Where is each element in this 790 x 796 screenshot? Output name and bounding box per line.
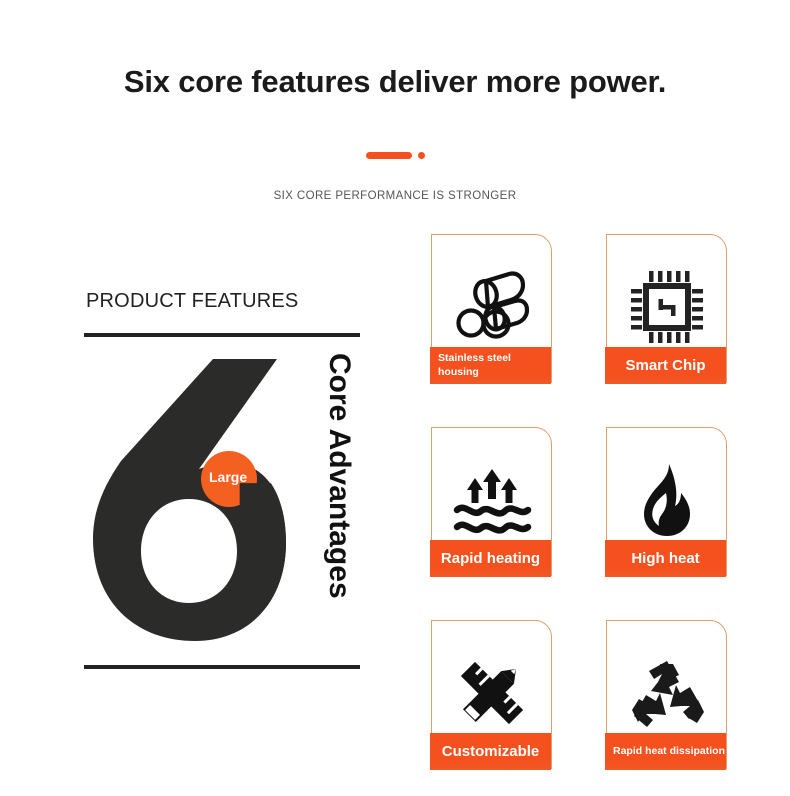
feature-card[interactable]: Smart Chip (606, 234, 727, 383)
feature-card-label: High heat (605, 540, 726, 577)
section-title: PRODUCT FEATURES (84, 290, 360, 313)
divider-dot (418, 152, 425, 159)
promo-page: Six core features deliver more power. SI… (0, 0, 790, 796)
feature-card-label: Rapid heat dissipation (605, 733, 726, 770)
feature-card-grid: Stainless steel housing (431, 234, 735, 769)
vertical-caption-text: Core Advantages (324, 353, 354, 599)
feature-card[interactable]: Rapid heating (431, 427, 552, 576)
feature-card-label: Smart Chip (605, 347, 726, 384)
feature-card[interactable]: High heat (606, 427, 727, 576)
rule-top (84, 333, 360, 337)
feature-card[interactable]: Rapid heat dissipation (606, 620, 727, 769)
title-divider (0, 152, 790, 159)
feature-card-label: Stainless steel housing (430, 347, 551, 384)
large-badge-label: Large (209, 469, 279, 485)
vertical-caption: Core Advantages (316, 353, 362, 643)
page-subtitle: SIX CORE PERFORMANCE IS STRONGER (0, 190, 790, 202)
hero-number-block: Large Core Advantages (84, 351, 360, 651)
feature-card[interactable]: Customizable (431, 620, 552, 769)
feature-card[interactable]: Stainless steel housing (431, 234, 552, 383)
feature-card-label: Customizable (430, 733, 551, 770)
big-six-shape (81, 351, 291, 647)
rule-bottom (84, 665, 360, 669)
left-column: PRODUCT FEATURES Large Core Advantages (84, 290, 360, 669)
page-title: Six core features deliver more power. (0, 64, 790, 100)
feature-card-label: Rapid heating (430, 540, 551, 577)
divider-bar (366, 152, 412, 159)
